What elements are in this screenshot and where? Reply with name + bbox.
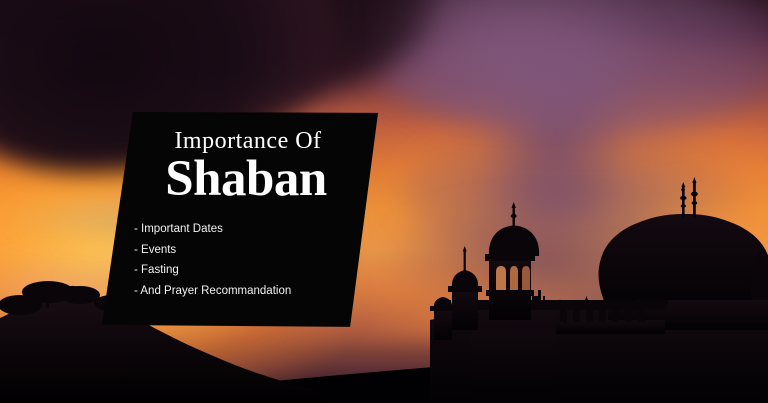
- list-item: - Important Dates: [134, 219, 358, 239]
- purple-cloud-bottom-right: [488, 250, 768, 380]
- list-item: - And Prayer Recommandation: [134, 281, 358, 301]
- panel-bullet-list: - Important Dates - Events - Fasting - A…: [134, 219, 358, 301]
- panel-headline: Shaban: [134, 153, 358, 205]
- title-panel-content: Importance Of Shaban - Important Dates -…: [98, 108, 380, 330]
- list-item: - Fasting: [134, 260, 358, 280]
- title-panel: Importance Of Shaban - Important Dates -…: [98, 108, 380, 330]
- list-item: - Events: [134, 240, 358, 260]
- banner: Importance Of Shaban - Important Dates -…: [0, 0, 768, 403]
